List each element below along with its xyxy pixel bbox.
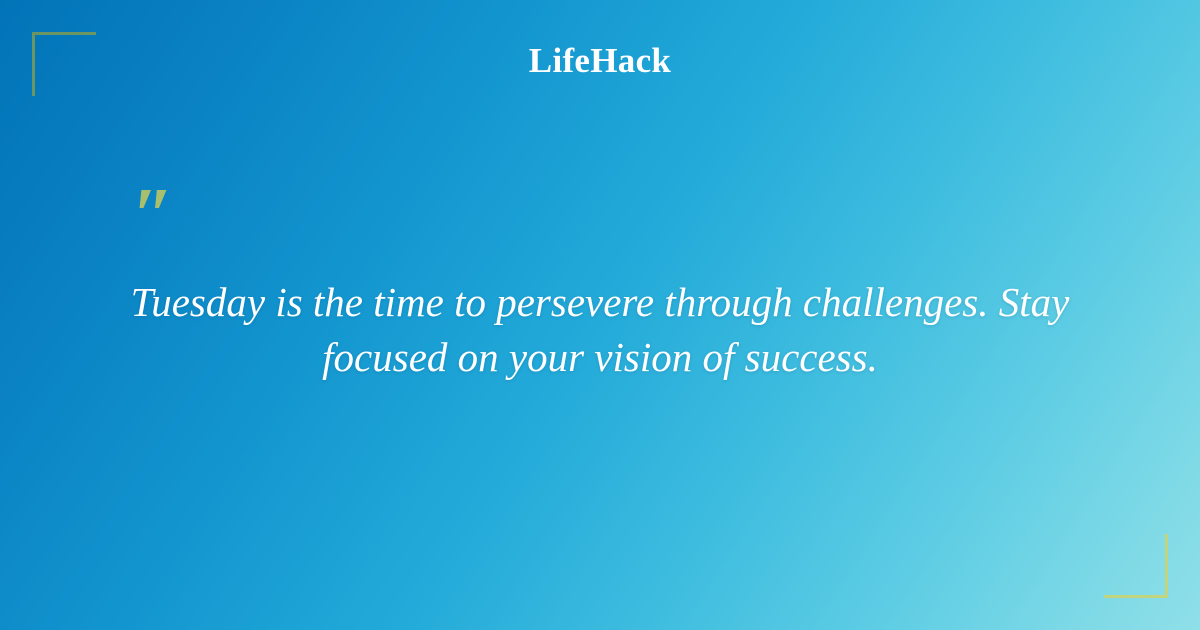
quote-card: LifeHack ″ Tuesday is the time to persev… xyxy=(0,0,1200,630)
quote-block: ″ Tuesday is the time to persevere throu… xyxy=(100,192,1100,385)
corner-bracket-bottom-right-icon xyxy=(1104,534,1168,598)
brand-header: LifeHack xyxy=(0,40,1200,82)
quote-text: Tuesday is the time to persevere through… xyxy=(100,275,1100,385)
brand-logo-text: LifeHack xyxy=(529,40,671,82)
quotation-mark-icon: ″ xyxy=(132,192,1100,239)
